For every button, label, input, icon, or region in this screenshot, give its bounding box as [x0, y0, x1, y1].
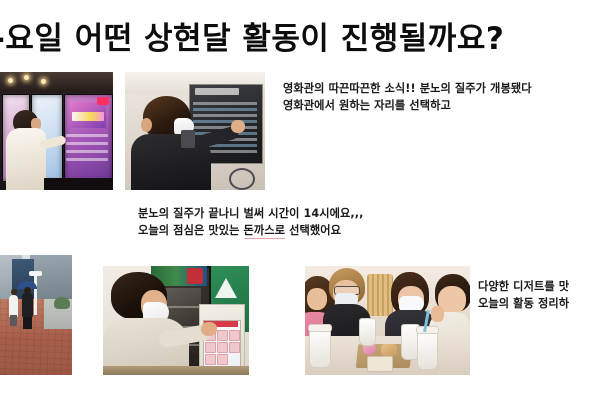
ceiling-lamp-icon [24, 75, 29, 80]
kiosk-menu-tile [205, 342, 216, 353]
showtime-row [193, 108, 257, 111]
pedestrian-legs [10, 315, 17, 326]
paper-food-box [367, 356, 393, 372]
cinema-sign-label [195, 88, 239, 95]
shrub [54, 297, 70, 309]
showtime-row [193, 120, 257, 123]
star-logo-icon [215, 278, 237, 298]
caption-lunch-line2: 오늘의 점심은 맛있는 돈까스로 선택했어요 [138, 222, 363, 239]
wooden-counter [103, 366, 249, 375]
kiosk-menu-tile [217, 330, 228, 341]
showtime-row [193, 114, 257, 117]
kiosk-menu-tile [205, 354, 216, 365]
caption-lunch-highlight: 돈까스로 [244, 224, 286, 239]
street-lamp-pole [34, 273, 37, 315]
screen-ui-row [66, 134, 108, 137]
advert-badge [187, 268, 203, 284]
ceiling-lamp-icon [41, 79, 46, 84]
screen-ui-row [66, 158, 108, 161]
photo-cafe-kiosk [103, 266, 249, 375]
photo-cafe-friends [305, 266, 470, 375]
brand-badge [97, 97, 109, 105]
queue-pole [229, 168, 255, 190]
pointing-hand [231, 120, 245, 133]
photo-kiosk-screens [0, 72, 113, 190]
screen-ui-row [66, 142, 108, 145]
screen-ui-row [66, 150, 108, 153]
ceiling-lamp-icon [8, 78, 13, 83]
person-face [307, 288, 327, 310]
counter-base [44, 178, 113, 190]
caption-dessert-line1: 다양한 디저트를 맛 [478, 278, 569, 295]
caption-lunch-line2-prefix: 오늘의 점심은 맛있는 [138, 224, 244, 237]
poster-title-text-block [72, 112, 104, 121]
rattan-chair [367, 274, 393, 316]
street-lamp-head [29, 271, 42, 276]
smartphone [181, 130, 195, 148]
ceiling-band [0, 72, 113, 92]
caption-cinema: 영화관의 따끈따끈한 소식!! 분노의 질주가 개봉됐다 영화관에서 원하는 자… [283, 80, 532, 114]
pedestrian-legs [23, 317, 32, 329]
photo-kiosk-screens-scene [0, 72, 113, 190]
kiosk-menu-tile [229, 342, 240, 353]
person-torso [6, 128, 46, 190]
pedestrian-body [22, 293, 33, 319]
caption-lunch-line1: 분노의 질주가 끝나니 벌써 시간이 14시에요,,, [138, 205, 363, 222]
drink-cup [309, 328, 331, 368]
peace-sign-hand [431, 306, 444, 322]
dessert-pastry [381, 344, 397, 356]
kiosk-menu-tile [229, 330, 240, 341]
caption-lunch-line2-suffix: 선택했어요 [285, 224, 341, 237]
caption-lunch: 분노의 질주가 끝나니 벌써 시간이 14시에요,,, 오늘의 점심은 맛있는 … [138, 205, 363, 239]
kiosk-menu-tile [217, 342, 228, 353]
tapping-hand [201, 322, 217, 336]
photo-cinema-board-scene [125, 72, 265, 190]
person-ear [141, 118, 152, 132]
photo-cinema-board [125, 72, 265, 190]
kiosk-menu-tile [217, 354, 228, 365]
drink-cup [359, 318, 376, 346]
photo-cafe-kiosk-scene [103, 266, 249, 375]
cup-lid [416, 326, 439, 334]
drink-cup [417, 330, 438, 370]
caption-dessert: 다양한 디저트를 맛 오늘의 활동 정리하 [478, 278, 569, 312]
caption-dessert-line2: 오늘의 활동 정리하 [478, 295, 569, 312]
presentation-slide: -요일 어떤 상현달 활동이 진행될까요? [0, 0, 600, 400]
pedestrian-body [9, 295, 18, 317]
caption-cinema-line2: 영화관에서 원하는 자리를 선택하고 [283, 97, 532, 114]
photo-cafe-friends-scene [305, 266, 470, 375]
page-title: -요일 어떤 상현달 활동이 진행될까요? [0, 16, 600, 62]
photo-street [0, 255, 72, 375]
showtime-row [193, 102, 257, 105]
photo-street-scene [0, 255, 72, 375]
cup-lid [308, 324, 332, 332]
caption-cinema-line1: 영화관의 따끈따끈한 소식!! 분노의 질주가 개봉됐다 [283, 80, 532, 97]
